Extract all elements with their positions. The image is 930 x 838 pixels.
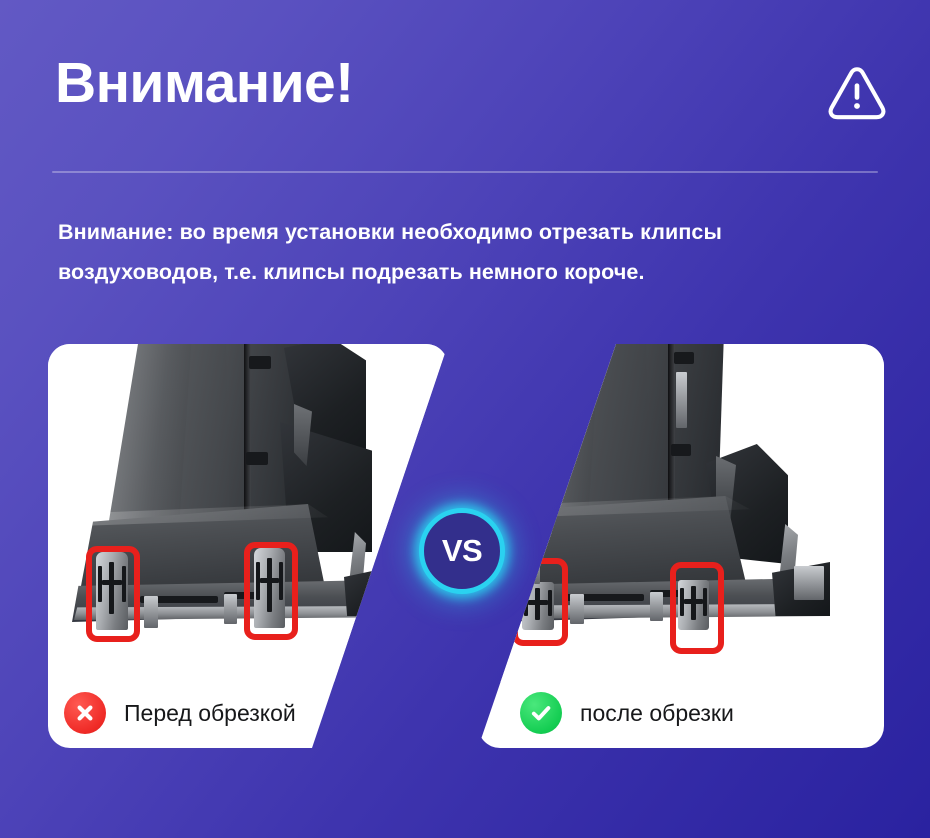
highlight-box-clip-2 bbox=[670, 562, 724, 654]
comparison-section: Перед обрезкой bbox=[0, 340, 930, 752]
vs-badge: VS bbox=[419, 508, 505, 594]
warning-triangle-icon bbox=[826, 62, 888, 124]
after-photo bbox=[478, 344, 884, 682]
highlight-box-clip-2 bbox=[244, 542, 298, 640]
after-card: после обрезки bbox=[478, 344, 884, 748]
header: Внимание! bbox=[0, 0, 930, 172]
after-caption-label: после обрезки bbox=[580, 700, 734, 727]
header-divider bbox=[52, 171, 878, 173]
before-photo bbox=[48, 344, 448, 682]
after-caption-row: после обрезки bbox=[520, 692, 734, 734]
before-card: Перед обрезкой bbox=[48, 344, 448, 748]
before-caption-row: Перед обрезкой bbox=[64, 692, 296, 734]
before-caption-label: Перед обрезкой bbox=[124, 700, 296, 727]
notice-text: Внимание: во время установки необходимо … bbox=[58, 213, 886, 293]
vs-label: VS bbox=[442, 533, 482, 569]
x-circle-icon bbox=[64, 692, 106, 734]
highlight-box-clip-1 bbox=[512, 558, 568, 646]
check-circle-icon bbox=[520, 692, 562, 734]
page-title: Внимание! bbox=[55, 55, 354, 112]
highlight-box-clip-1 bbox=[86, 546, 140, 642]
